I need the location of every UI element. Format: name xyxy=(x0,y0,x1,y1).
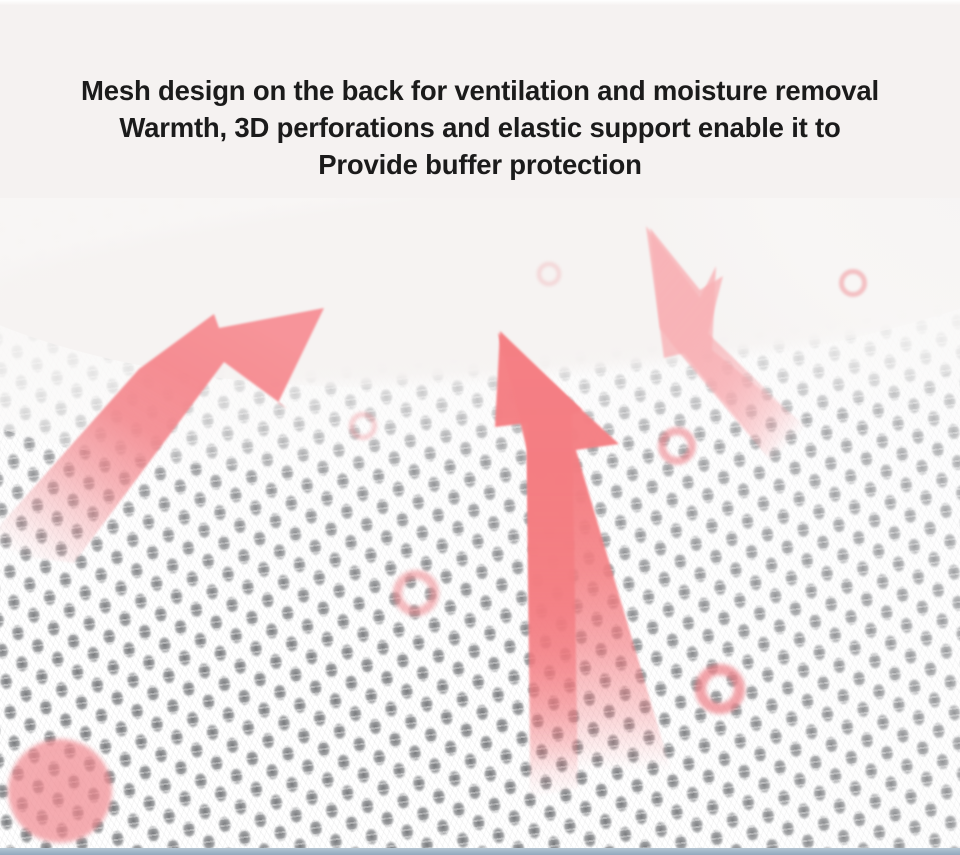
headline-block: Mesh design on the back for ventilation … xyxy=(0,72,960,183)
headline-line-3: Provide buffer protection xyxy=(0,146,960,183)
top-hairline xyxy=(0,0,960,5)
perforation-highlight-group xyxy=(0,198,960,855)
perforation-highlight-6 xyxy=(695,664,745,714)
perforation-highlight-7 xyxy=(8,739,112,843)
perforation-highlight-4 xyxy=(658,427,696,465)
infographic-page: Mesh design on the back for ventilation … xyxy=(0,0,960,855)
headline-line-1: Mesh design on the back for ventilation … xyxy=(0,72,960,109)
bottom-accent-strip xyxy=(0,848,960,855)
perforation-highlight-3 xyxy=(349,412,377,440)
headline-line-2: Warmth, 3D perforations and elastic supp… xyxy=(0,109,960,146)
perforation-highlight-2 xyxy=(839,269,867,297)
perforation-highlight-5 xyxy=(393,570,439,616)
perforation-highlight-1 xyxy=(537,262,561,286)
mesh-fabric-photo xyxy=(0,198,960,855)
